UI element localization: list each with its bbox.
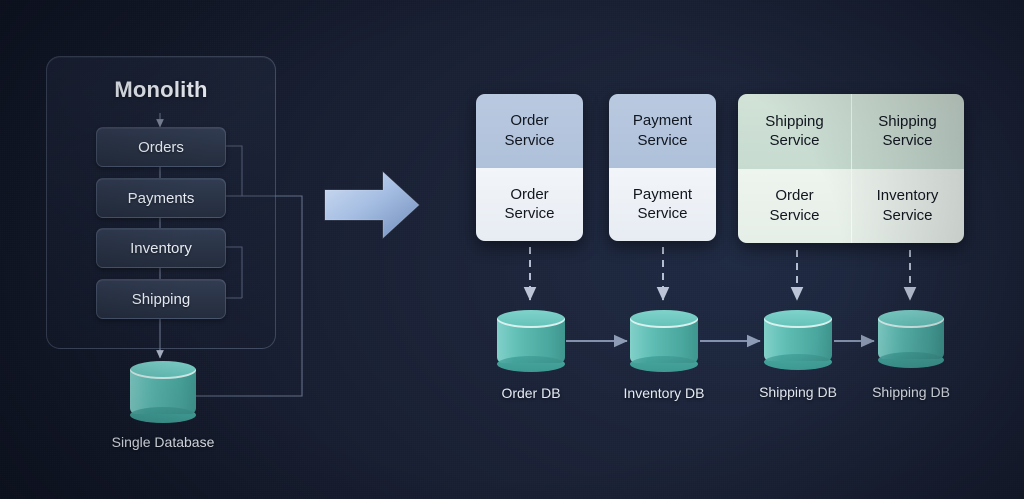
service-card-payment-top: Payment Service	[609, 94, 716, 168]
service-card-shipping-left-top: Shipping Service	[738, 94, 851, 169]
monolith-module-orders[interactable]: Orders	[96, 127, 226, 167]
service-card-shipping-left-bottom-line1: Order	[775, 186, 813, 206]
service-card-payment-bottom-line2: Service	[637, 204, 687, 224]
cylinder-bottom	[878, 352, 944, 368]
service-card-shipping-left-bottom-line2: Service	[769, 206, 819, 226]
service-card-shipping-left-bottom: Order Service	[738, 169, 851, 244]
inventory-db-cylinder	[630, 310, 698, 372]
cylinder-bottom	[497, 356, 565, 372]
cylinder-top	[630, 310, 698, 328]
cylinder-bottom	[630, 356, 698, 372]
shipping-db-1-cylinder	[764, 310, 832, 370]
diagram-canvas: Monolith Orders Payments Inventory Shipp…	[0, 0, 1024, 499]
shipping-db-2-label: Shipping DB	[811, 384, 1011, 400]
monolith-module-payments[interactable]: Payments	[96, 178, 226, 218]
cylinder-top	[130, 361, 196, 379]
service-card-shipping-right-bottom-line1: Inventory	[877, 186, 939, 206]
service-card-shipping-left-top-line1: Shipping	[765, 112, 823, 132]
cylinder-top	[878, 310, 944, 328]
single-database-cylinder	[130, 361, 196, 423]
green-block-divider	[851, 94, 852, 243]
service-card-order-top-line1: Order	[510, 111, 548, 131]
service-card-order-bottom-line2: Service	[504, 204, 554, 224]
cylinder-bottom	[764, 354, 832, 370]
service-card-shipping-left-top-line2: Service	[769, 131, 819, 151]
order-db-cylinder	[497, 310, 565, 372]
card-to-db-dashed-links	[530, 247, 910, 300]
shipping-db-2-cylinder	[878, 310, 944, 368]
cylinder-bottom	[130, 407, 196, 423]
service-card-payment-top-line2: Service	[637, 131, 687, 151]
service-card-payment-bottom-line1: Payment	[633, 185, 692, 205]
service-card-payment-bottom: Payment Service	[609, 168, 716, 242]
monolith-module-inventory[interactable]: Inventory	[96, 228, 226, 268]
service-card-shipping-right-top: Shipping Service	[851, 94, 964, 169]
service-card-order[interactable]: Order Service Order Service	[476, 94, 583, 241]
monolith-module-shipping[interactable]: Shipping	[96, 279, 226, 319]
right-arrow-icon	[325, 172, 419, 238]
service-card-payment[interactable]: Payment Service Payment Service	[609, 94, 716, 241]
service-card-order-top-line2: Service	[504, 131, 554, 151]
cylinder-top	[497, 310, 565, 328]
service-card-group-green[interactable]: Shipping Service Shipping Service Order …	[738, 94, 964, 243]
service-card-shipping-right-top-line1: Shipping	[878, 112, 936, 132]
monolith-title: Monolith	[47, 77, 275, 103]
service-card-shipping-right-bottom: Inventory Service	[851, 169, 964, 244]
service-card-order-bottom: Order Service	[476, 168, 583, 242]
service-card-shipping-right-bottom-line2: Service	[882, 206, 932, 226]
single-database-label: Single Database	[63, 434, 263, 450]
service-card-shipping-right-top-line2: Service	[882, 131, 932, 151]
cylinder-top	[764, 310, 832, 328]
service-card-payment-top-line1: Payment	[633, 111, 692, 131]
service-card-order-top: Order Service	[476, 94, 583, 168]
service-card-order-bottom-line1: Order	[510, 185, 548, 205]
